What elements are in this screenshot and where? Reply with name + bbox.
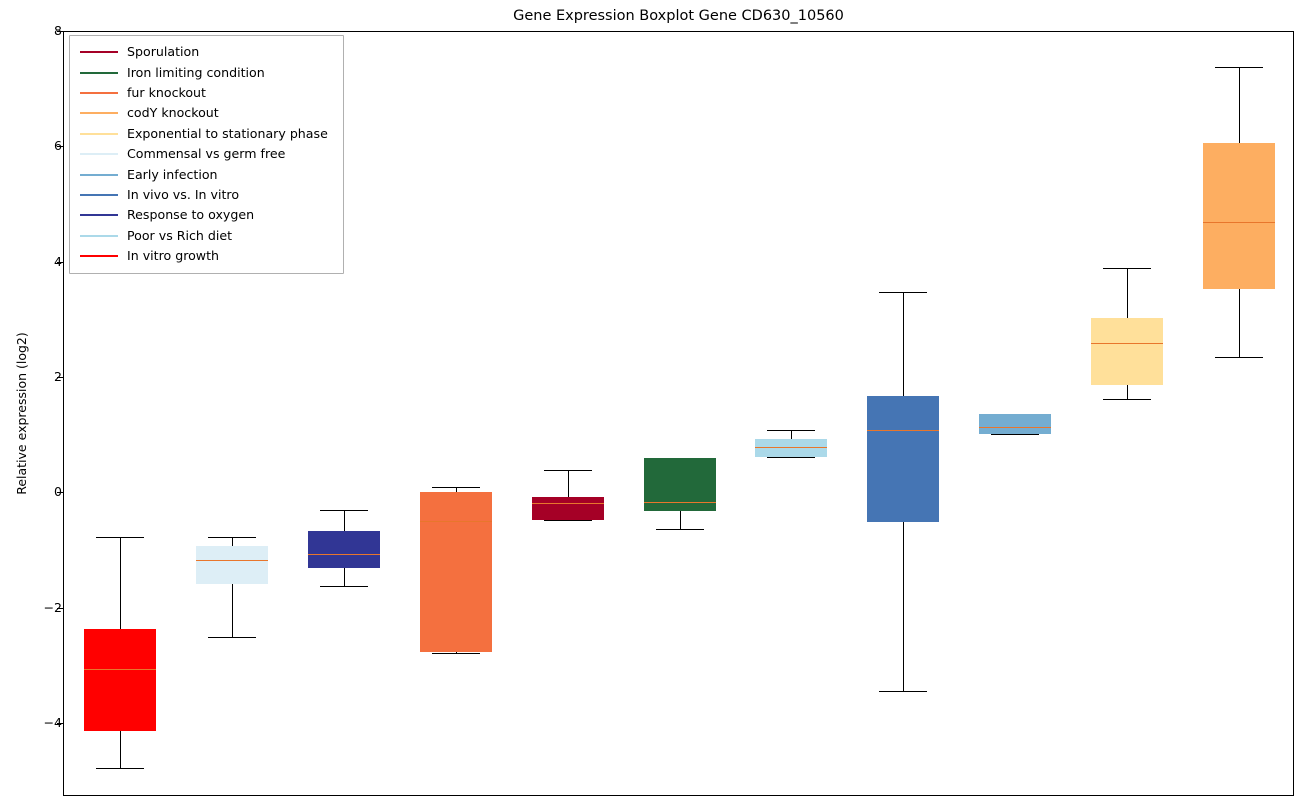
legend-color-swatch [80,112,118,114]
legend-color-swatch [80,174,118,176]
whisker-lower [1239,289,1240,357]
page-title: Gene Expression Boxplot Gene CD630_10560 [63,7,1294,25]
median-line [1203,222,1275,223]
iqr-box [1203,143,1275,288]
legend-item-label: Poor vs Rich diet [127,229,232,243]
legend-color-swatch [80,133,118,135]
legend-color-swatch [80,235,118,237]
legend-item[interactable]: Poor vs Rich diet [76,226,337,246]
legend-item-label: Iron limiting condition [127,66,265,80]
legend-item[interactable]: Commensal vs germ free [76,144,337,164]
legend-item[interactable]: Response to oxygen [76,205,337,225]
legend-color-swatch [80,72,118,74]
y-axis-label: Relative expression (log2) [14,31,29,796]
legend: SporulationIron limiting conditionfur kn… [69,35,344,274]
legend-item[interactable]: codY knockout [76,103,337,123]
legend-item[interactable]: Early infection [76,164,337,184]
legend-item-label: codY knockout [127,106,219,120]
legend-item-label: In vitro growth [127,249,219,263]
legend-item[interactable]: Exponential to stationary phase [76,124,337,144]
legend-color-swatch [80,51,118,53]
legend-item-label: Sporulation [127,45,199,59]
legend-item[interactable]: In vivo vs. In vitro [76,185,337,205]
legend-color-swatch [80,255,118,257]
legend-color-swatch [80,194,118,196]
legend-item[interactable]: In vitro growth [76,246,337,266]
legend-item[interactable]: fur knockout [76,83,337,103]
whisker-cap-lower [1215,357,1263,358]
whisker-cap-upper [1215,67,1263,68]
legend-item-label: Commensal vs germ free [127,147,285,161]
legend-item-label: Early infection [127,168,218,182]
legend-color-swatch [80,92,118,94]
legend-color-swatch [80,214,118,216]
legend-color-swatch [80,153,118,155]
legend-item-label: Exponential to stationary phase [127,127,328,141]
legend-item-label: Response to oxygen [127,208,254,222]
legend-item-label: In vivo vs. In vitro [127,188,239,202]
legend-item-label: fur knockout [127,86,206,100]
legend-item[interactable]: Iron limiting condition [76,62,337,82]
legend-item[interactable]: Sporulation [76,42,337,62]
boxplot-figure: Gene Expression Boxplot Gene CD630_10560… [0,0,1309,812]
whisker-upper [1239,67,1240,143]
